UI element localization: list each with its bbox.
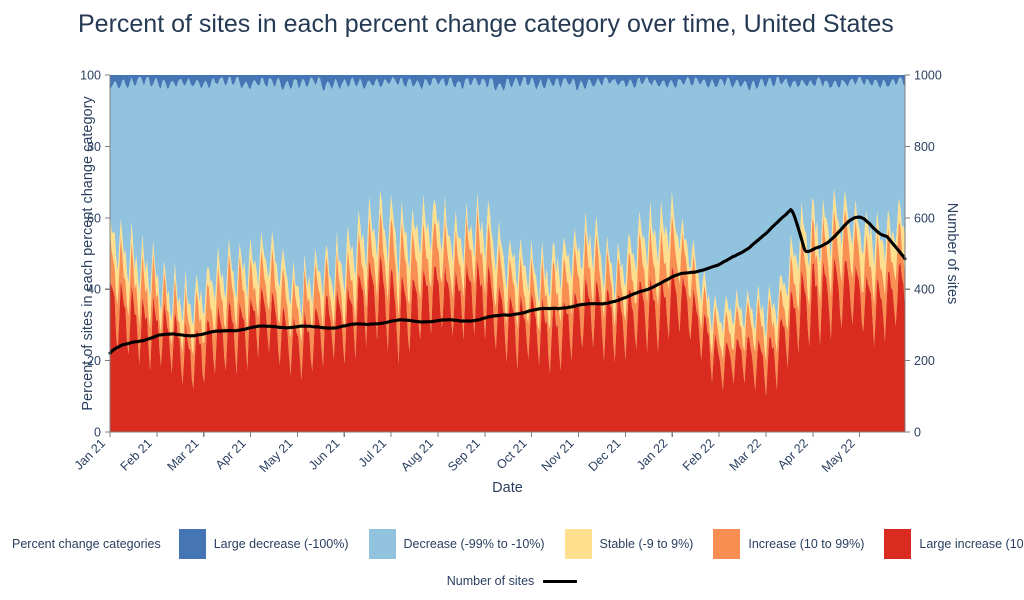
legend-line-row[interactable]: Number of sites: [0, 570, 1024, 592]
x-tick-label: Oct 21: [494, 436, 530, 472]
legend-color-swatch: [713, 529, 740, 559]
y-tick-label: 100: [80, 69, 101, 83]
y2-tick-label: 400: [914, 283, 935, 297]
legend-item[interactable]: Large decrease (-100%): [179, 529, 349, 559]
x-tick-label: Apr 21: [213, 436, 249, 472]
legend-color-swatch: [565, 529, 592, 559]
legend-item-label: Stable (-9 to 9%): [600, 537, 694, 551]
legend-item[interactable]: Stable (-9 to 9%): [565, 529, 694, 559]
legend-line-swatch: [543, 580, 577, 583]
x-tick-label: Jan 22: [634, 436, 670, 472]
y2-axis-title: Number of sites: [944, 203, 960, 305]
x-tick-label: May 22: [819, 436, 858, 475]
x-axis-title: Date: [492, 480, 523, 496]
legend-item[interactable]: Increase (10 to 99%): [713, 529, 864, 559]
x-tick-label: Apr 22: [775, 436, 811, 472]
x-tick-label: Jun 21: [306, 436, 342, 472]
plot-area: 02040608010002004006008001000Jan 21Feb 2…: [0, 0, 1024, 520]
y2-tick-label: 200: [914, 354, 935, 368]
legend-item-list: Large decrease (-100%)Decrease (-99% to …: [179, 529, 1024, 559]
legend-title: Percent change categories: [12, 537, 161, 551]
y2-tick-label: 600: [914, 211, 935, 225]
y2-tick-label: 1000: [914, 69, 942, 83]
y-axis-title: Percent of sites in each percent change …: [80, 96, 96, 411]
legend-color-swatch: [369, 529, 396, 559]
x-tick-label: Jul 21: [356, 436, 390, 470]
x-tick-label: Aug 21: [398, 436, 436, 474]
legend-color-swatch: [884, 529, 911, 559]
legend-item[interactable]: Decrease (-99% to -10%): [369, 529, 545, 559]
legend-item-label: Large decrease (-100%): [214, 537, 349, 551]
x-tick-label: Mar 22: [727, 436, 764, 473]
legend-color-swatch: [179, 529, 206, 559]
y2-tick-label: 800: [914, 140, 935, 154]
legend-item-label: Decrease (-99% to -10%): [404, 537, 545, 551]
legend-line-label: Number of sites: [447, 574, 535, 588]
x-tick-label: Mar 21: [164, 436, 201, 473]
legend-item-label: Large increase (100% or more): [919, 537, 1024, 551]
area-series-group: [110, 75, 905, 432]
x-tick-label: Dec 21: [586, 436, 624, 474]
x-tick-label: May 21: [257, 436, 296, 475]
chart-page: Percent of sites in each percent change …: [0, 0, 1024, 600]
stacked-area-chart[interactable]: 02040608010002004006008001000Jan 21Feb 2…: [0, 0, 1024, 520]
x-tick-label: Nov 21: [539, 436, 577, 474]
x-tick-label: Jan 21: [72, 436, 108, 472]
x-tick-label: Feb 21: [118, 436, 155, 473]
legend-item-label: Increase (10 to 99%): [748, 537, 864, 551]
legend-item[interactable]: Large increase (100% or more): [884, 529, 1024, 559]
y2-tick-label: 0: [914, 426, 921, 440]
legend-categories[interactable]: Percent change categories Large decrease…: [0, 527, 1024, 561]
x-tick-label: Sep 21: [445, 436, 483, 474]
x-tick-label: Feb 22: [680, 436, 717, 473]
